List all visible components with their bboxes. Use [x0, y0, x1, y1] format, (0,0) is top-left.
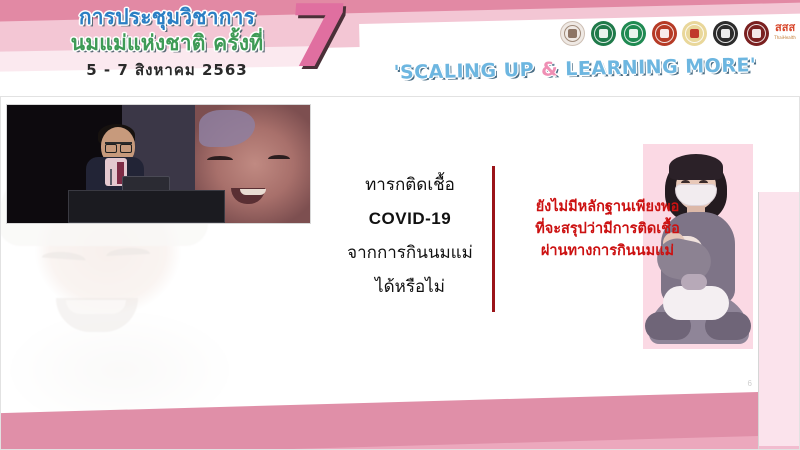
logo-department-health-icon	[621, 21, 646, 46]
conference-date: 5 - 7 สิงหาคม 2563	[22, 58, 312, 82]
answer-text-block: ยังไม่มีหลักฐานเพียงพอ ที่จะสรุปว่ามีการ…	[500, 196, 715, 262]
tagline-part1: 'SCALING UP	[394, 59, 542, 84]
thaihealth-sublabel: ThaiHealth	[774, 33, 796, 43]
logo-ministry-public-health-icon	[591, 21, 616, 46]
question-line-2: COVID-19	[330, 202, 490, 236]
slide-content-area: ทารกติดเชื้อ COVID-19 จากการกินนมแม่ ได้…	[0, 96, 800, 450]
answer-line-1: ยังไม่มีหลักฐานเพียงพอ	[500, 196, 715, 218]
sponsor-logo-strip: สสส ThaiHealth	[560, 18, 796, 48]
conference-title-line1: การประชุมวิชาการ	[79, 5, 255, 29]
question-line-4: ได้หรือไม่	[330, 270, 490, 304]
logo-royal-crest-gold-icon	[682, 21, 707, 46]
slide-page-number: 6	[748, 379, 752, 388]
right-pink-rail	[758, 192, 800, 450]
slide-presentation-screen: 7 การประชุมวิชาการ นมแม่แห่งชาติ ครั้งที…	[0, 0, 800, 450]
answer-line-3: ผ่านทางการกินนมแม่	[500, 240, 715, 262]
logo-thaihealth-icon: สสส ThaiHealth	[774, 23, 796, 43]
logo-royal-emblem-icon	[560, 21, 585, 46]
logo-maroon-emblem-icon	[744, 21, 769, 46]
conference-header-banner: 7 การประชุมวิชาการ นมแม่แห่งชาติ ครั้งที…	[0, 0, 800, 96]
question-text-block: ทารกติดเชื้อ COVID-19 จากการกินนมแม่ ได้…	[330, 168, 490, 304]
vertical-red-divider	[492, 166, 495, 312]
speaker-webcam-feed[interactable]	[6, 104, 311, 224]
tagline-part2: LEARNING MORE'	[558, 54, 757, 80]
answer-line-2: ที่จะสรุปว่ามีการติดเชื้อ	[500, 218, 715, 240]
conference-title: การประชุมวิชาการ นมแม่แห่งชาติ ครั้งที่	[22, 4, 312, 56]
logo-thai-institution-red-icon	[652, 21, 677, 46]
logo-black-emblem-icon	[713, 21, 738, 46]
conference-title-line2: นมแม่แห่งชาติ ครั้งที่	[22, 30, 312, 56]
tagline-ampersand: &	[541, 58, 559, 80]
question-line-1: ทารกติดเชื้อ	[330, 168, 490, 202]
question-line-3: จากการกินนมแม่	[330, 236, 490, 270]
